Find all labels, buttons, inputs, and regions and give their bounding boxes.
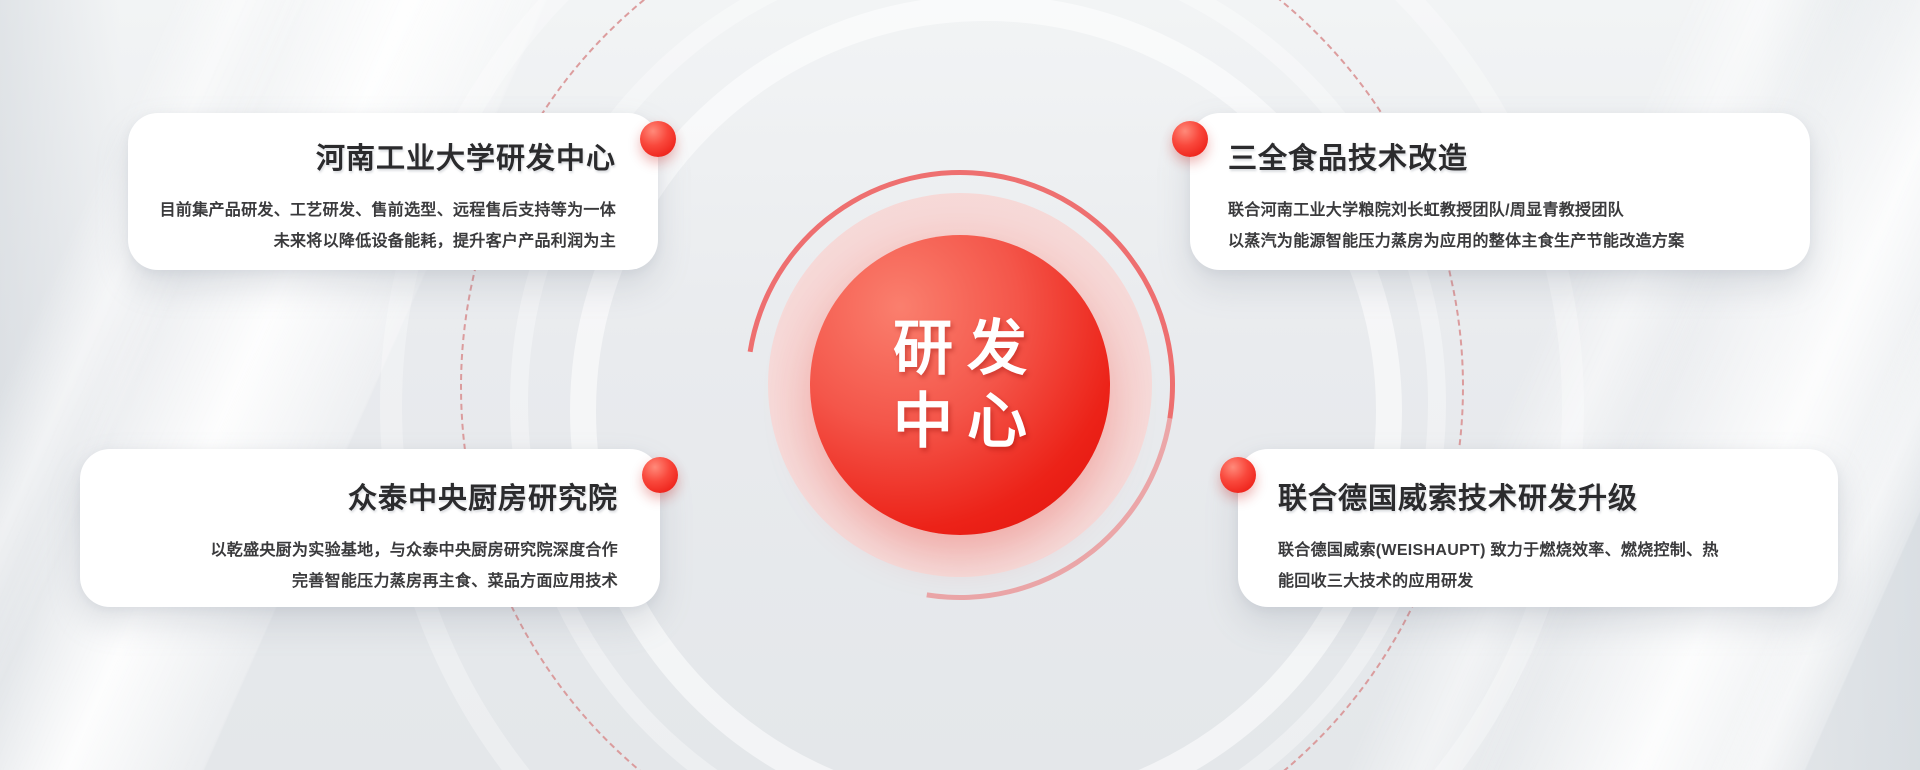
card-line-2: 未来将以降低设备能耗，提升客户产品利润为主 [158, 226, 616, 257]
card-dot-icon [640, 121, 676, 157]
center-hub: 研发 中心 [745, 170, 1175, 600]
card-line-2: 完善智能压力蒸房再主食、菜品方面应用技术 [110, 566, 618, 597]
center-core-circle: 研发 中心 [810, 235, 1110, 535]
card-title: 河南工业大学研发中心 [158, 135, 616, 177]
card-title: 众泰中央厨房研究院 [110, 475, 618, 517]
background-left-shade [0, 0, 120, 770]
center-title-line-2: 中心 [879, 385, 1041, 458]
card-line-1: 联合河南工业大学粮院刘长虹教授团队/周显青教授团队 [1228, 195, 1780, 226]
card-sanquan-food-tech-upgrade[interactable]: 三全食品技术改造 联合河南工业大学粮院刘长虹教授团队/周显青教授团队 以蒸汽为能… [1190, 113, 1810, 270]
card-henan-university-rd-center[interactable]: 河南工业大学研发中心 目前集产品研发、工艺研发、售前选型、远程售后支持等为一体 … [128, 113, 658, 270]
center-title-line-1: 研发 [879, 312, 1041, 385]
card-title: 联合德国威索技术研发升级 [1278, 475, 1808, 517]
card-title: 三全食品技术改造 [1228, 135, 1780, 177]
card-dot-icon [1172, 121, 1208, 157]
card-line-1: 以乾盛央厨为实验基地，与众泰中央厨房研究院深度合作 [110, 535, 618, 566]
card-line-1: 目前集产品研发、工艺研发、售前选型、远程售后支持等为一体 [158, 195, 616, 226]
card-dot-icon [1220, 457, 1256, 493]
card-line-1: 联合德国威索(WEISHAUPT) 致力于燃烧效率、燃烧控制、热 [1278, 535, 1808, 566]
card-line-2: 以蒸汽为能源智能压力蒸房为应用的整体主食生产节能改造方案 [1228, 226, 1780, 257]
rd-center-infographic: 研发 中心 河南工业大学研发中心 目前集产品研发、工艺研发、售前选型、远程售后支… [0, 0, 1920, 770]
card-weishaupt-joint-rd-upgrade[interactable]: 联合德国威索技术研发升级 联合德国威索(WEISHAUPT) 致力于燃烧效率、燃… [1238, 449, 1838, 607]
card-line-2: 能回收三大技术的应用研发 [1278, 566, 1808, 597]
card-zhongtai-central-kitchen-institute[interactable]: 众泰中央厨房研究院 以乾盛央厨为实验基地，与众泰中央厨房研究院深度合作 完善智能… [80, 449, 660, 607]
card-dot-icon [642, 457, 678, 493]
